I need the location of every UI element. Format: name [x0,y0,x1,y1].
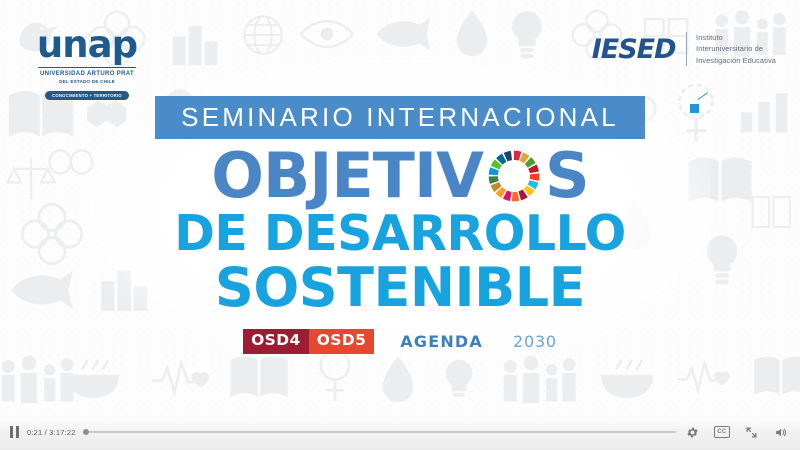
ods4-badge: OSD4 [243,329,309,354]
water-drop-icon [378,352,418,408]
agenda-label: AGENDA [400,332,483,351]
miniplayer-icon[interactable] [745,426,758,439]
title-objetiv-text: OBJETIV [211,145,483,207]
slide-title-block: SEMINARIO INTERNACIONAL OBJETIV [0,96,800,354]
iesed-subtitle: Instituto Interuniversitario de Investig… [696,32,776,66]
soup-bowl-icon [62,348,124,406]
volume-icon[interactable] [773,426,788,439]
unap-tagline-badge: CONOCIMIENTO + TERRITORIO [45,91,129,100]
unap-university-name: UNIVERSIDAD ARTURO PRAT [32,71,142,79]
heartbeat-icon [676,356,736,396]
pause-button[interactable] [10,426,20,438]
iesed-subtitle-line3: Investigación Educativa [696,55,776,66]
progress-track[interactable] [84,431,676,433]
iesed-wordmark: IESED [592,36,676,63]
seminar-banner: SEMINARIO INTERNACIONAL [155,96,645,139]
progress-handle[interactable] [83,429,89,435]
sdg-color-wheel-icon [484,146,544,206]
pause-bar-right [16,426,19,438]
globe-icon [238,10,288,60]
fish-icon [372,10,442,58]
iesed-divider-rule [686,32,688,66]
player-left-controls: 0:21 / 3:17:22 [0,426,76,438]
open-book-icon [226,348,292,404]
lightbulb-icon [506,8,548,64]
family-icon [0,352,74,412]
title-line-objetivos: OBJETIV [0,145,800,207]
unap-divider-rule [38,67,136,68]
ods5-badge: OSD5 [309,329,375,354]
pause-bar-left [10,426,13,438]
agenda-year: 2030 [513,332,557,351]
iesed-subtitle-line2: Interuniversitario de [696,43,776,54]
video-stage[interactable]: unap UNIVERSIDAD ARTURO PRAT DEL ESTADO … [0,0,800,450]
iesed-logo: IESED Instituto Interuniversitario de In… [592,32,776,66]
soup-bowl-icon [596,348,658,406]
gender-equality-icon [310,344,360,408]
open-book-icon [750,348,800,402]
city-buildings-icon [168,14,224,70]
title-line-sostenible: SOSTENIBLE [0,260,800,315]
captions-button[interactable]: CC [714,426,730,438]
iesed-subtitle-line1: Instituto [696,32,776,43]
heartbeat-icon [150,356,216,398]
title-line-desarrollo: DE DESARROLLO [0,209,800,259]
eye-icon [298,12,356,56]
settings-gear-icon[interactable] [686,426,699,439]
video-control-bar[interactable]: 0:21 / 3:17:22 CC [0,414,800,450]
unap-wordmark: unap [32,26,142,63]
player-right-controls: CC [686,426,800,439]
unap-state-line: DEL ESTADO DE CHILE [32,79,142,85]
time-readout: 0:21 / 3:17:22 [27,428,76,437]
family-icon [498,352,576,412]
video-player-screen: unap UNIVERSIDAD ARTURO PRAT DEL ESTADO … [0,0,800,450]
scrubber-wrapper[interactable] [76,414,686,450]
title-s-text: S [545,145,589,207]
unap-logo: unap UNIVERSIDAD ARTURO PRAT DEL ESTADO … [32,26,142,102]
captions-label: CC [714,426,730,438]
water-drop-icon [452,6,492,62]
lightbulb-icon [440,356,478,408]
ods-meta-row: OSD4 OSD5 AGENDA 2030 [0,329,800,354]
